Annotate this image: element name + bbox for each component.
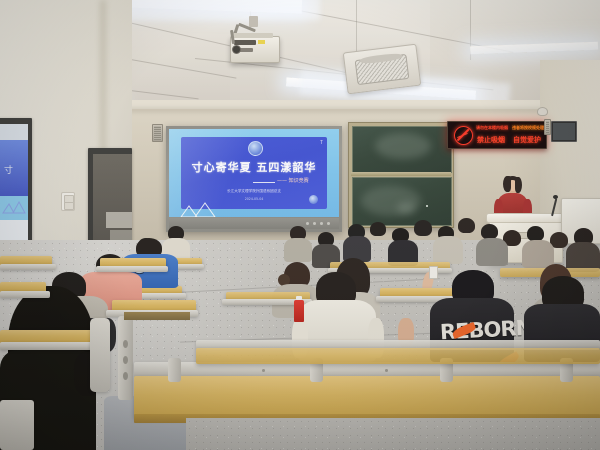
chalkboard-lower-panel xyxy=(352,177,452,226)
wall-monitor xyxy=(551,121,577,142)
slide-subtitle: —— 知识竞赛 xyxy=(277,177,309,184)
wall-speaker xyxy=(544,119,551,135)
projection-screen: T 寸心寄华夏 五四漾韶华 —— 知识竞赛 长江大学文理学院外国语系团总支 20… xyxy=(166,126,342,232)
seat-back xyxy=(0,400,34,450)
slide-organization: 长江大学文理学院外国语系团总支 xyxy=(169,189,339,194)
microphone xyxy=(553,195,558,199)
slide-title: 寸心寄华夏 五四漾韶华 xyxy=(169,159,339,175)
ceiling-camera xyxy=(537,107,548,116)
desk-front-surface xyxy=(134,376,600,418)
screen-control-dots xyxy=(306,222,330,225)
red-drink-bottle xyxy=(294,300,304,322)
floor-front-strip xyxy=(186,418,600,450)
mountain-graphic-icon xyxy=(179,202,229,217)
chalkboard-frame xyxy=(348,122,454,228)
desk-leg xyxy=(118,316,133,400)
led-line1-right: 违者将按校规处理 xyxy=(512,125,544,131)
slide-corner-mark: T xyxy=(320,140,323,146)
projector-lens xyxy=(232,45,241,54)
led-no-smoking-sign: 请勿在本楼内吸烟 违者将按校规处理 禁止吸烟 自觉爱护 xyxy=(447,121,547,149)
led-line2-right: 自觉爱护 xyxy=(513,135,541,145)
chalkboard-upper-panel xyxy=(352,126,452,173)
seat-back xyxy=(90,318,110,392)
slide-watermark-icon xyxy=(309,195,318,204)
university-emblem-icon xyxy=(248,141,263,156)
led-line2-left: 禁止吸烟 xyxy=(477,135,505,145)
lecture-hall-photo: 寸 T 寸心寄华夏 五四漾韶华 —— 知识竞赛 长江大学文理学院外国语系团总支 … xyxy=(0,0,600,450)
led-line1-left: 请勿在本楼内吸烟 xyxy=(476,125,508,131)
slide-content: T 寸心寄华夏 五四漾韶华 —— 知识竞赛 长江大学文理学院外国语系团总支 20… xyxy=(169,129,339,217)
mountain-reflection-icon xyxy=(2,200,26,214)
ceiling-light-strip xyxy=(470,42,598,54)
wall-speaker xyxy=(152,124,163,142)
smartphone xyxy=(429,266,438,279)
light-switch[interactable] xyxy=(61,192,75,211)
